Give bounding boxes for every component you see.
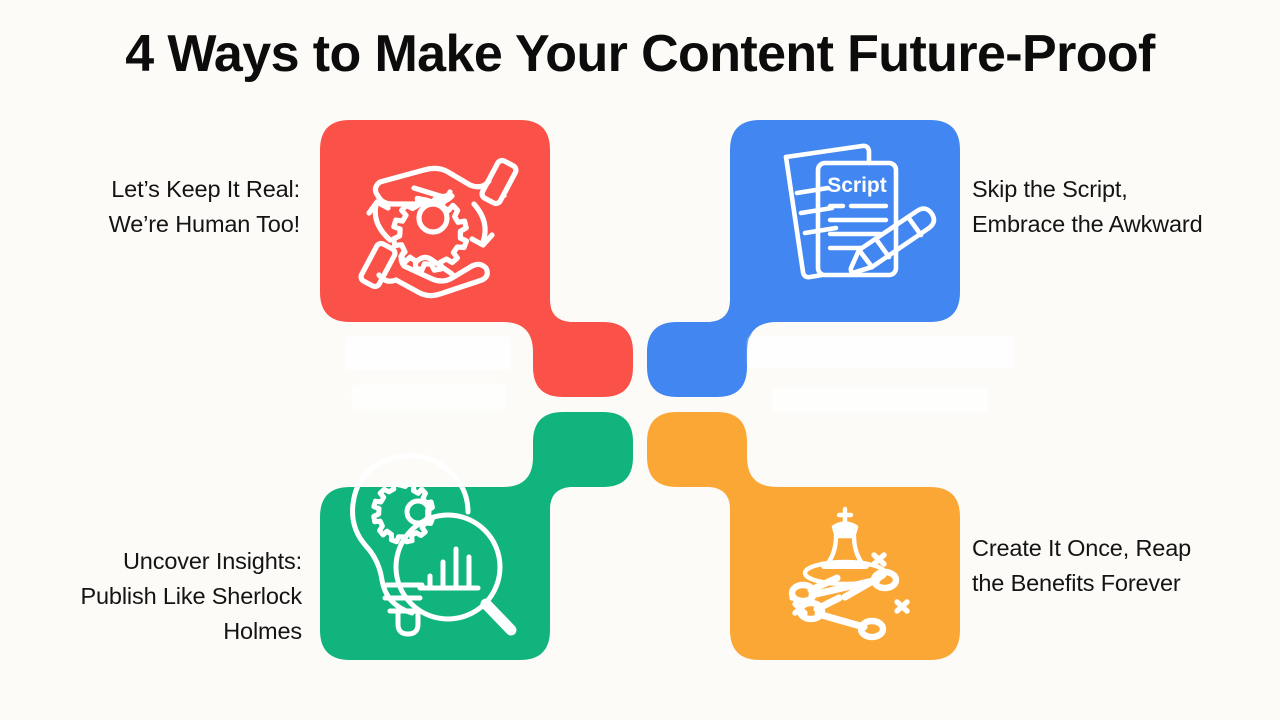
label-top-right-line-1: Skip the Script, bbox=[972, 172, 1272, 207]
label-bottom-left: Uncover Insights: Publish Like Sherlock … bbox=[0, 544, 302, 648]
tile-bottom-right-shape[interactable] bbox=[647, 412, 960, 660]
tile-bottom-right[interactable] bbox=[647, 412, 960, 660]
ghost-artifact-left-1 bbox=[345, 336, 511, 370]
ghost-artifact-right-1 bbox=[748, 336, 1014, 368]
tile-bottom-left-shape[interactable] bbox=[320, 412, 633, 660]
label-bottom-left-line-1: Uncover Insights: bbox=[0, 544, 302, 579]
script-label: Script bbox=[827, 174, 887, 197]
infographic-canvas: 4 Ways to Make Your Content Future-Proof bbox=[0, 0, 1280, 720]
label-top-right: Skip the Script, Embrace the Awkward bbox=[972, 172, 1272, 242]
label-top-left-line-2: We’re Human Too! bbox=[0, 207, 300, 242]
label-top-right-line-2: Embrace the Awkward bbox=[972, 207, 1272, 242]
tile-bottom-left[interactable] bbox=[320, 412, 633, 660]
ghost-artifact-right-2 bbox=[772, 388, 988, 412]
label-bottom-right: Create It Once, Reap the Benefits Foreve… bbox=[972, 531, 1272, 601]
label-top-left: Let’s Keep It Real: We’re Human Too! bbox=[0, 172, 300, 242]
label-bottom-left-line-3: Holmes bbox=[0, 614, 302, 649]
ghost-artifact-left-2 bbox=[352, 384, 506, 410]
label-bottom-right-line-2: the Benefits Forever bbox=[972, 566, 1272, 601]
label-top-left-line-1: Let’s Keep It Real: bbox=[0, 172, 300, 207]
label-bottom-left-line-2: Publish Like Sherlock bbox=[0, 579, 302, 614]
label-bottom-right-line-1: Create It Once, Reap bbox=[972, 531, 1272, 566]
